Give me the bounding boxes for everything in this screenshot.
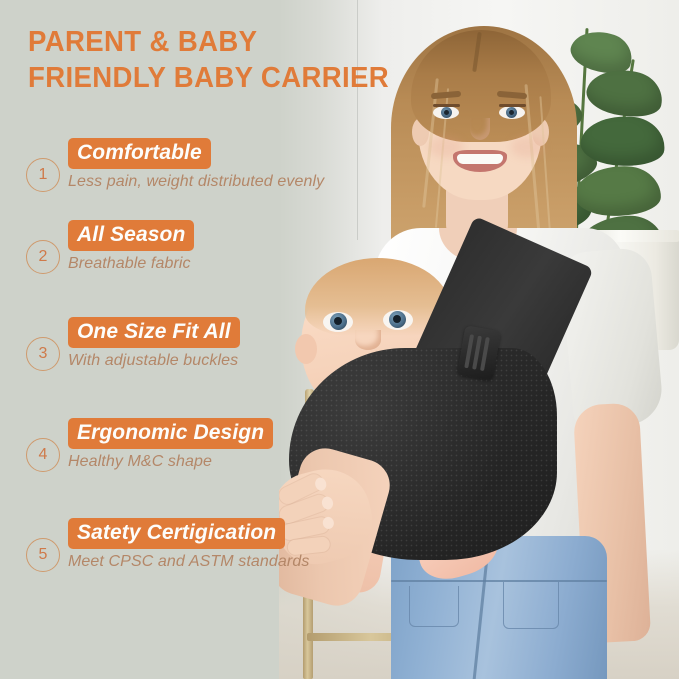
feature-subtext-2: Breathable fabric	[68, 254, 194, 274]
product-infographic: PARENT & BABY FRIENDLY BABY CARRIER 1 Co…	[0, 0, 679, 679]
page-title: PARENT & BABY FRIENDLY BABY CARRIER	[28, 24, 408, 96]
feature-heading-3: One Size Fit All	[68, 317, 240, 348]
feature-subtext-4: Healthy M&C shape	[68, 452, 273, 472]
eye-left	[433, 106, 459, 119]
eye-right	[499, 106, 525, 119]
content-panel: PARENT & BABY FRIENDLY BABY CARRIER 1 Co…	[0, 0, 400, 679]
feature-heading-4: Ergonomic Design	[68, 418, 273, 449]
feature-heading-2: All Season	[68, 220, 194, 251]
feature-heading-1: Comfortable	[68, 138, 211, 169]
feature-heading-5: Satety Certigication	[68, 518, 285, 549]
feature-number-1: 1	[26, 158, 60, 192]
feature-subtext-5: Meet CPSC and ASTM standards	[68, 552, 309, 572]
feature-subtext-1: Less pain, weight distributed evenly	[68, 172, 324, 192]
feature-number-4: 4	[26, 438, 60, 472]
feature-subtext-3: With adjustable buckles	[68, 351, 240, 371]
feature-number-3: 3	[26, 337, 60, 371]
nose	[470, 118, 490, 140]
feature-number-2: 2	[26, 240, 60, 274]
feature-number-5: 5	[26, 538, 60, 572]
